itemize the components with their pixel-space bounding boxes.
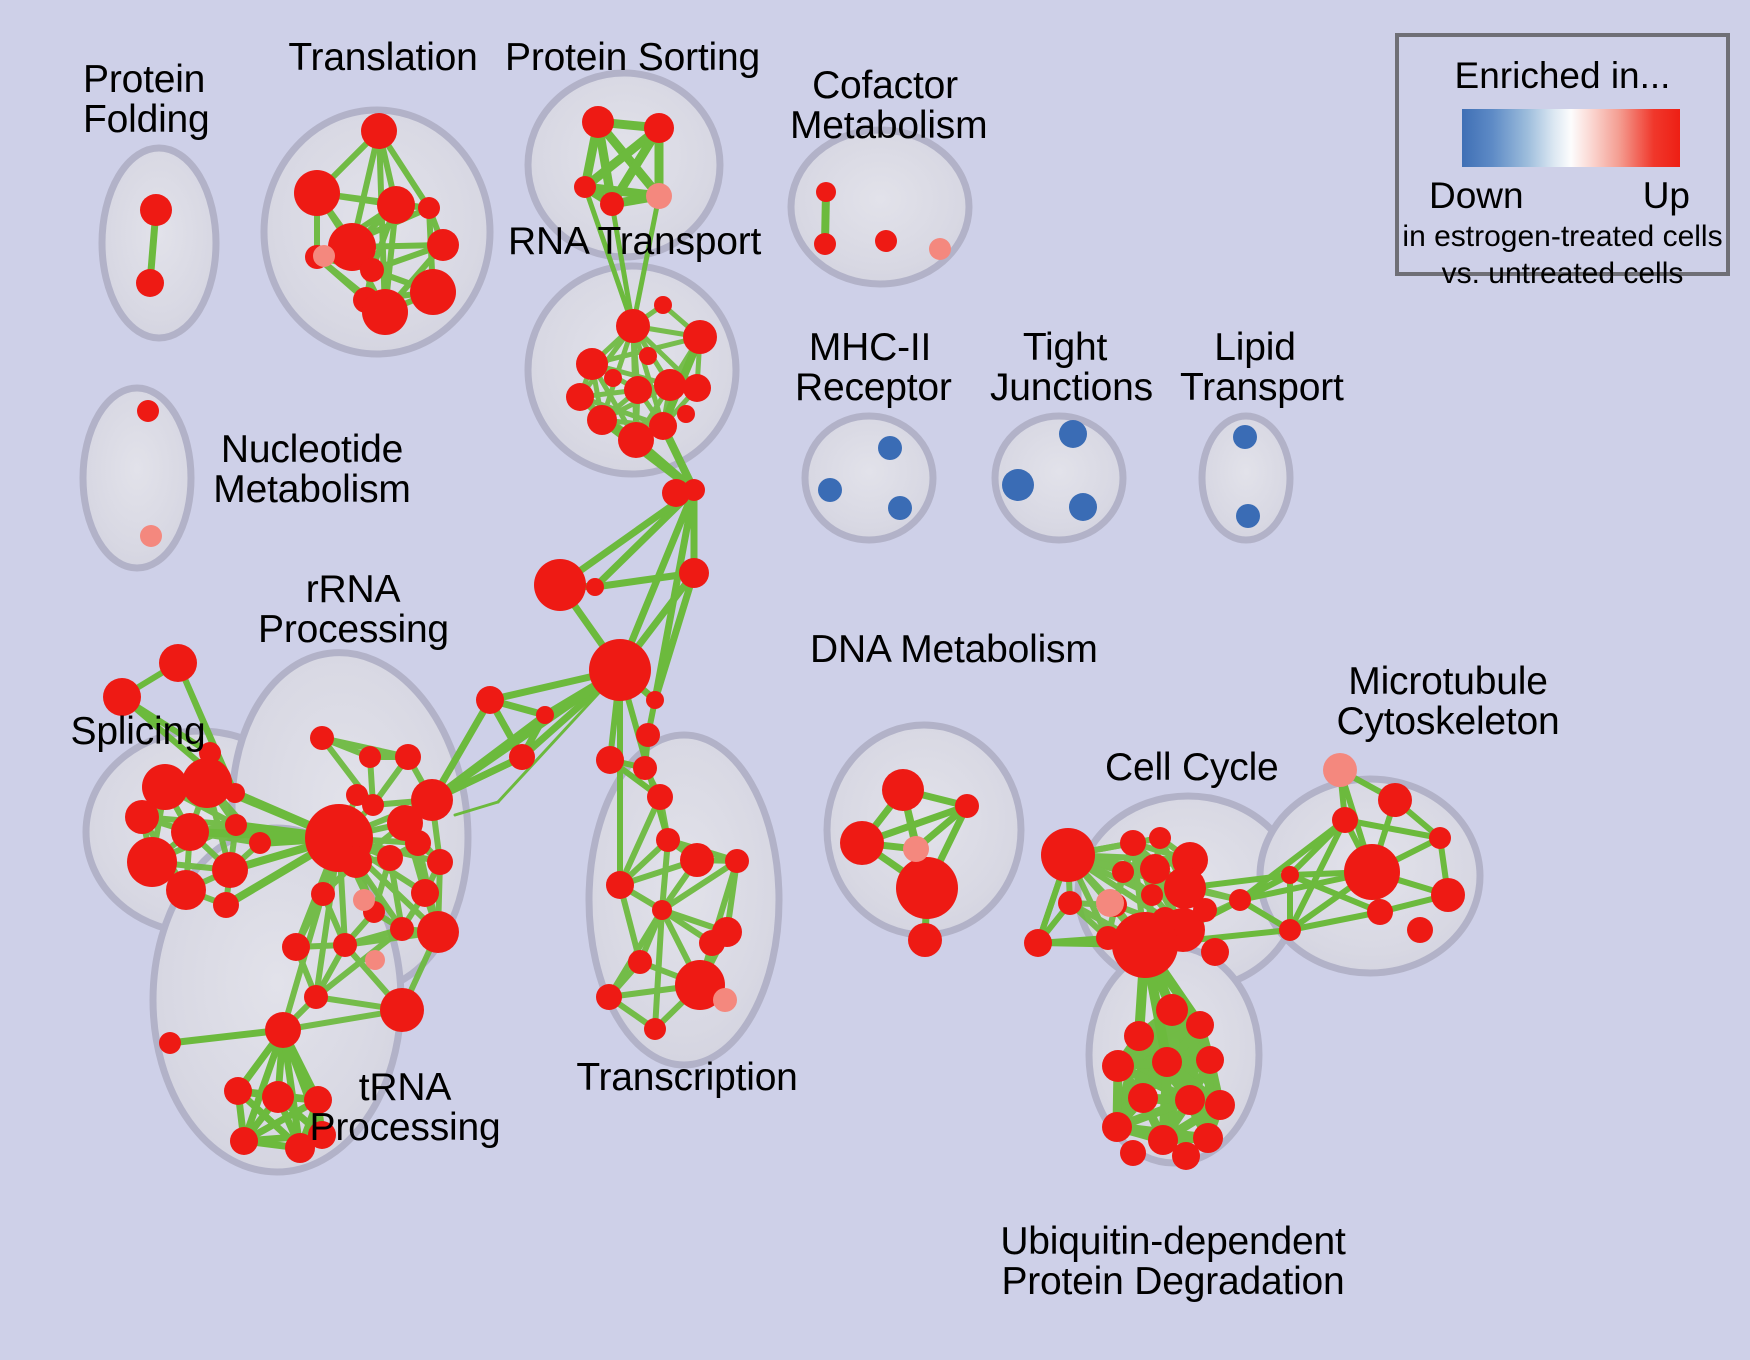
cluster-label-translation: Translation	[283, 38, 483, 78]
cluster-label-rna-transport: RNA Transport	[508, 222, 748, 262]
cluster-label-trna-processing: tRNA Processing	[300, 1068, 510, 1148]
hull-mhc-ii-receptor	[805, 416, 933, 540]
cluster-label-microtubule-cytoskeleton: Microtubule Cytoskeleton	[1308, 662, 1588, 742]
legend-panel: Enriched in... Down Up in estrogen-treat…	[1395, 33, 1730, 276]
cluster-label-cell-cycle: Cell Cycle	[1105, 748, 1275, 788]
legend-low-label: Down	[1429, 175, 1524, 217]
cluster-label-protein-folding: Protein Folding	[83, 60, 283, 140]
cluster-label-nucleotide-metabolism: Nucleotide Metabolism	[197, 430, 427, 510]
cluster-label-mhc-ii-receptor: MHC-II Receptor	[795, 328, 945, 408]
legend-caption-line2: vs. untreated cells	[1442, 257, 1684, 290]
legend-caption: in estrogen-treated cellsvs. untreated c…	[1399, 219, 1726, 292]
cluster-label-transcription: Transcription	[572, 1058, 802, 1098]
legend-color-gradient-bar	[1462, 109, 1680, 167]
cluster-label-splicing: Splicing	[58, 712, 218, 752]
cluster-label-lipid-transport: Lipid Transport	[1180, 328, 1330, 408]
cluster-label-ubiquitin: Ubiquitin-dependent Protein Degradation	[993, 1222, 1353, 1302]
hull-cofactor-metabolism	[791, 130, 969, 284]
cluster-label-tight-junctions: Tight Junctions	[990, 328, 1140, 408]
hull-protein-folding	[102, 148, 216, 338]
legend-title: Enriched in...	[1399, 55, 1726, 97]
hull-nucleotide-metabolism	[83, 388, 191, 568]
enrichment-network-figure: Protein Folding Translation Protein Sort…	[0, 0, 1750, 1360]
cluster-label-rrna-processing: rRNA Processing	[258, 570, 448, 650]
cluster-label-dna-metabolism: DNA Metabolism	[810, 630, 1070, 670]
legend-high-label: Up	[1643, 175, 1690, 217]
cluster-label-protein-sorting: Protein Sorting	[505, 38, 745, 78]
cluster-label-cofactor-metabolism: Cofactor Metabolism	[790, 66, 980, 146]
legend-caption-line1: in estrogen-treated cells	[1402, 220, 1722, 253]
